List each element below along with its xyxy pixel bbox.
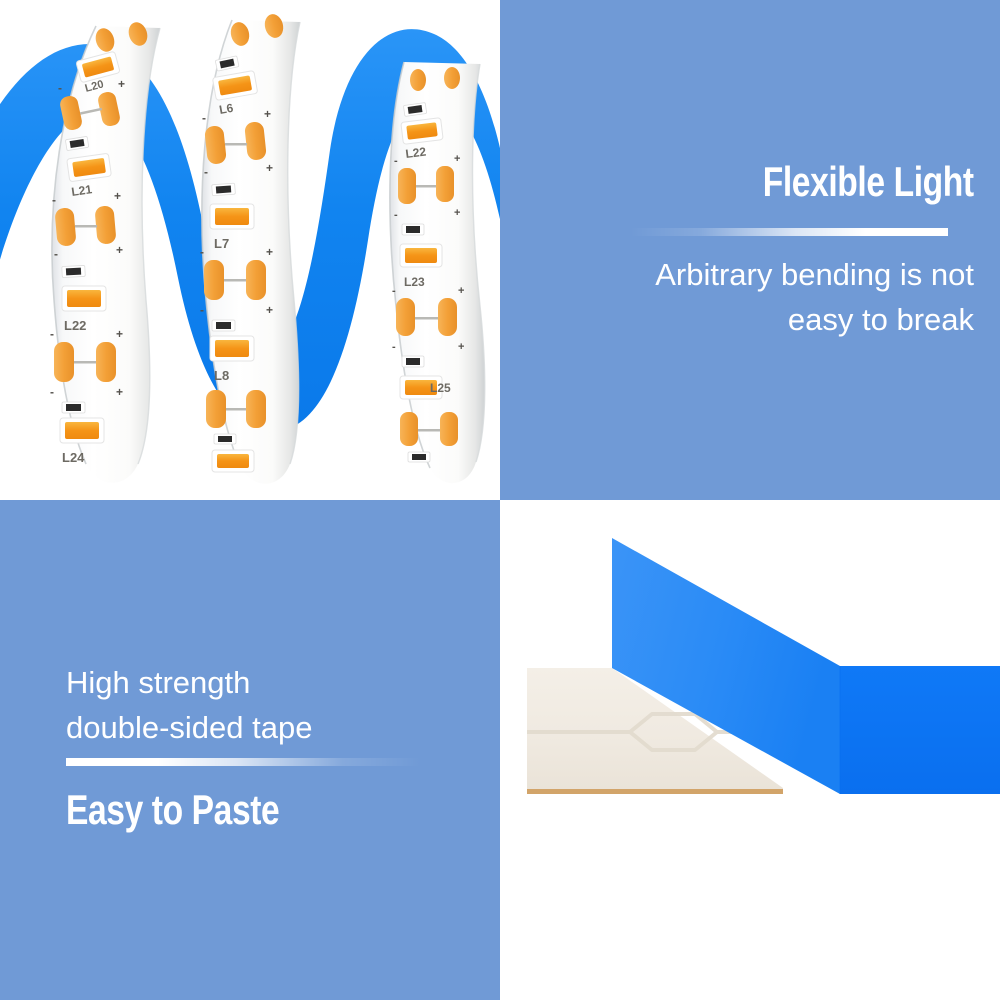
easy-to-paste-body: High strength double-sided tape <box>66 660 312 750</box>
adhered-tape-face <box>840 666 1000 794</box>
svg-text:L6: L6 <box>218 101 235 117</box>
flexible-light-body-line1: Arbitrary bending is not <box>655 252 974 297</box>
double-sided-tape-art <box>500 500 1000 1000</box>
svg-text:+: + <box>454 153 460 165</box>
easy-to-paste-divider <box>66 758 421 766</box>
svg-text:-: - <box>200 245 204 259</box>
resistor-2 <box>62 265 86 277</box>
svg-text:L21: L21 <box>70 182 93 199</box>
svg-text:+: + <box>266 161 273 175</box>
svg-text:L24: L24 <box>62 450 85 465</box>
easy-to-paste-headline: Easy to Paste <box>66 786 279 834</box>
svg-text:L7: L7 <box>214 236 229 251</box>
svg-text:+: + <box>116 243 123 257</box>
svg-text:+: + <box>266 245 273 259</box>
svg-text:-: - <box>392 285 396 297</box>
svg-text:-: - <box>54 247 58 261</box>
svg-text:-: - <box>52 193 56 207</box>
svg-text:L25: L25 <box>430 381 451 395</box>
flexible-light-panel: Flexible Light Arbitrary bending is not … <box>500 0 1000 500</box>
resistor-r1 <box>402 224 424 235</box>
svg-text:L23: L23 <box>404 275 425 289</box>
flexible-light-headline: Flexible Light <box>763 158 974 206</box>
svg-text:+: + <box>116 327 123 341</box>
svg-text:-: - <box>50 327 54 341</box>
svg-text:+: + <box>114 189 121 203</box>
svg-text:-: - <box>392 341 396 353</box>
svg-text:-: - <box>202 111 206 125</box>
svg-text:L22: L22 <box>64 318 86 333</box>
led-center-L10 <box>212 450 254 472</box>
svg-text:+: + <box>116 385 123 399</box>
svg-text:L8: L8 <box>214 368 229 383</box>
infographic-page: L20 - + <box>0 0 1000 1000</box>
easy-to-paste-body-line2: double-sided tape <box>66 705 312 750</box>
svg-text:+: + <box>266 303 273 317</box>
svg-text:-: - <box>58 81 62 95</box>
svg-text:-: - <box>204 165 208 179</box>
svg-text:+: + <box>458 341 464 353</box>
liner-edge <box>527 789 783 794</box>
led-strip-right: L22 - + - + L23 <box>390 62 485 483</box>
resistor-c3 <box>214 434 236 444</box>
resistor-c2 <box>212 320 235 331</box>
svg-text:-: - <box>394 155 398 167</box>
flexible-light-body: Arbitrary bending is not easy to break <box>655 252 974 342</box>
resistor-r3 <box>408 452 430 462</box>
svg-text:+: + <box>264 107 271 121</box>
led-strip-photo: L20 - + <box>0 0 500 500</box>
product-photo-panel: L20 - + <box>0 0 500 500</box>
resistor-c1 <box>212 183 236 196</box>
svg-text:+: + <box>458 285 464 297</box>
svg-text:-: - <box>394 209 398 221</box>
resistor-3 <box>62 402 85 413</box>
svg-text:-: - <box>200 303 204 317</box>
flexible-light-divider <box>630 228 948 236</box>
resistor-r2 <box>402 356 424 367</box>
easy-to-paste-body-line1: High strength <box>66 660 312 705</box>
svg-text:+: + <box>118 77 125 91</box>
svg-text:L22: L22 <box>405 145 428 161</box>
svg-text:-: - <box>50 385 54 399</box>
flexible-light-body-line2: easy to break <box>655 297 974 342</box>
tape-illustration-panel <box>500 500 1000 1000</box>
svg-text:+: + <box>454 207 460 219</box>
easy-to-paste-panel: High strength double-sided tape Easy to … <box>0 500 500 1000</box>
